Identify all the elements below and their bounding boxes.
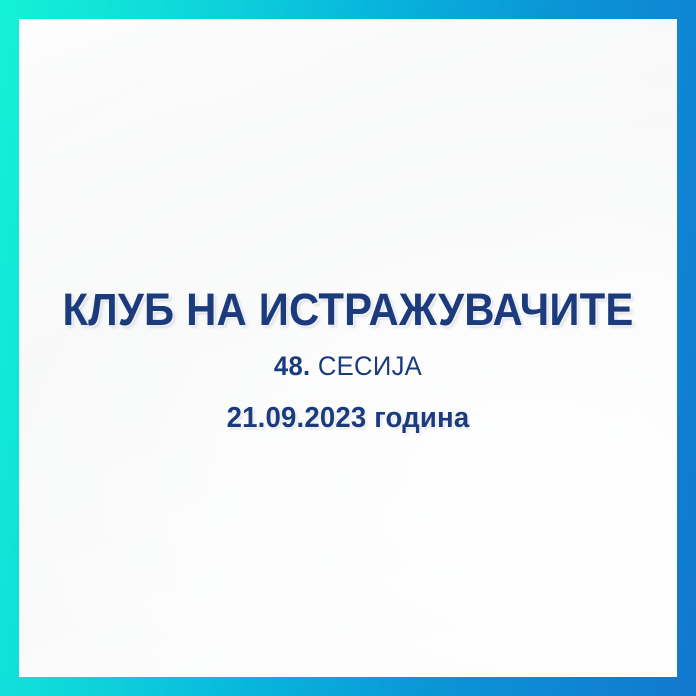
poster-canvas: DELL	[19, 19, 677, 677]
poster-frame: DELL	[0, 0, 696, 696]
blueprint-label-pr4: PR4	[484, 398, 513, 413]
right-edge-tab-1	[625, 315, 659, 322]
blueprint-label-pr1: PR1	[427, 323, 456, 338]
blueprint-linework	[358, 120, 677, 488]
folder-dark-strip	[137, 67, 451, 82]
right-edge-tab-3	[625, 343, 659, 350]
background-photo: DELL	[19, 19, 677, 677]
blueprint-label-pr5: PR5	[586, 437, 615, 452]
blueprint-label-pr2: PR2	[467, 344, 496, 359]
blueprint-label-pr3: PR3	[503, 358, 528, 372]
blueprint-sketch: PR1 PR2 PR3 PR4 PR5	[358, 120, 677, 488]
right-edge-tab-2	[625, 329, 659, 336]
